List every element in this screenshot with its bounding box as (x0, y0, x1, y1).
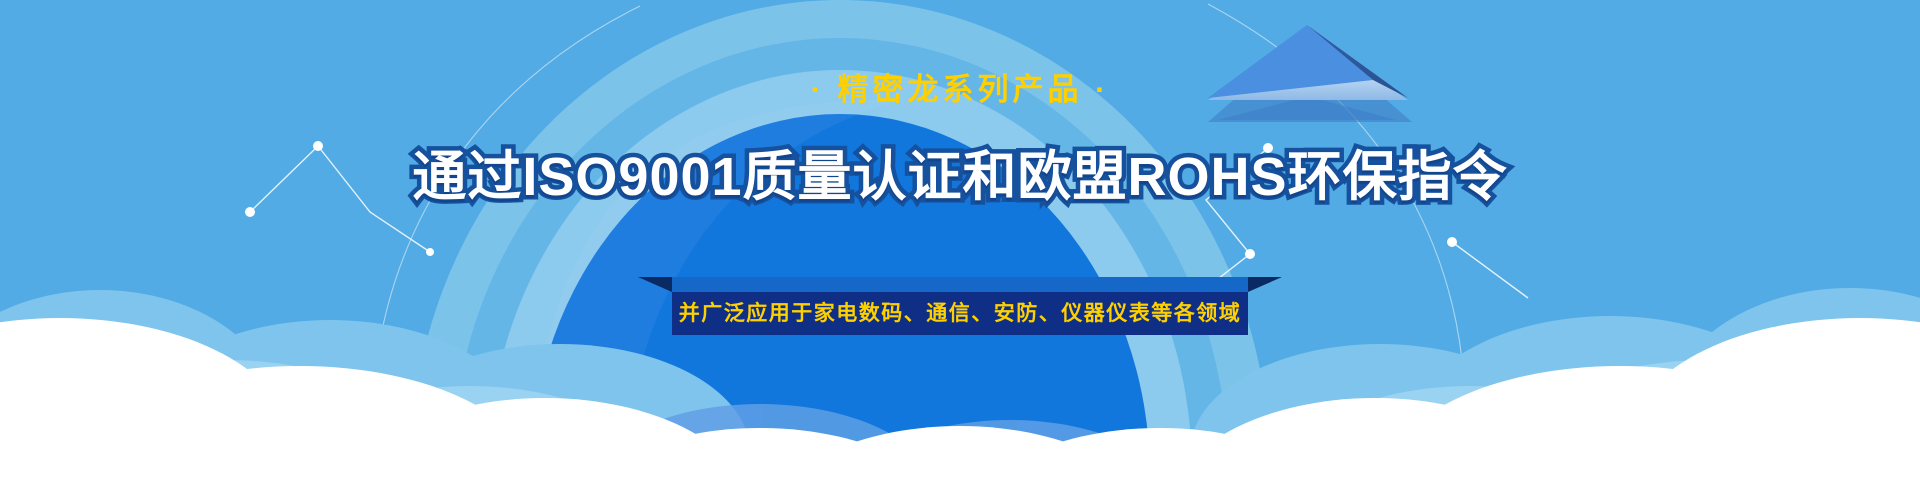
promo-banner: · 精密龙系列产品 · 通过ISO9001质量认证和欧盟ROHS环保指令 并广泛… (0, 0, 1920, 480)
ribbon-fold-left-icon (638, 277, 672, 292)
ribbon-fold-right-icon (1248, 277, 1282, 292)
banner-ribbon: 并广泛应用于家电数码、通信、安防、仪器仪表等各领域 (672, 277, 1248, 335)
ribbon-text: 并广泛应用于家电数码、通信、安防、仪器仪表等各领域 (679, 303, 1242, 324)
banner-kicker: · 精密龙系列产品 · (0, 74, 1920, 105)
banner-headline: 通过ISO9001质量认证和欧盟ROHS环保指令 (0, 148, 1920, 207)
ribbon-top-strip (672, 277, 1248, 292)
ribbon-body: 并广泛应用于家电数码、通信、安防、仪器仪表等各领域 (672, 292, 1248, 335)
